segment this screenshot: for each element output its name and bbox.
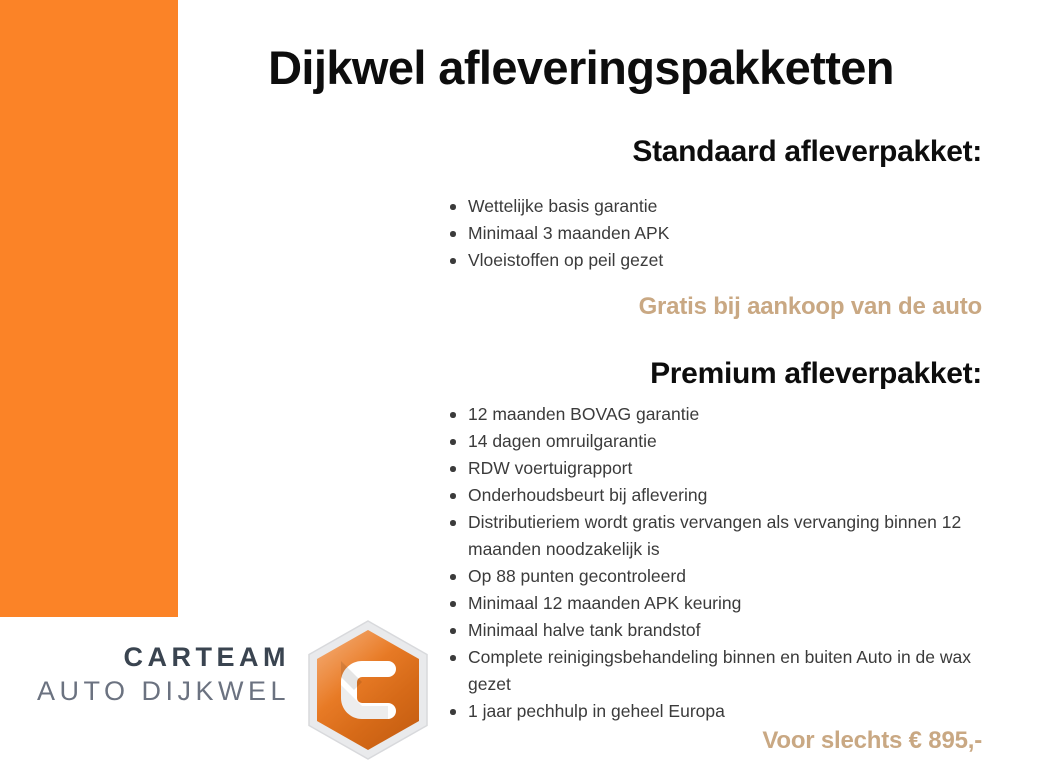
- list-item: Minimaal 3 maanden APK: [449, 220, 1009, 247]
- list-item: Wettelijke basis garantie: [449, 193, 1009, 220]
- list-item-label: Wettelijke basis garantie: [468, 196, 657, 216]
- list-item: Minimaal 12 maanden APK keuring: [449, 590, 1009, 617]
- standaard-price-note: Gratis bij aankoop van de auto: [639, 293, 982, 321]
- premium-price-note: Voor slechts € 895,-: [762, 727, 982, 755]
- list-item-label: Op 88 punten gecontroleerd: [468, 566, 686, 586]
- list-item: Op 88 punten gecontroleerd: [449, 563, 1009, 590]
- brand-name-auto-dijkwel: AUTO DIJKWEL: [0, 674, 290, 708]
- list-item-label: Vloeistoffen op peil gezet: [468, 250, 663, 270]
- page-title: Dijkwel afleveringspakketten: [180, 42, 982, 95]
- list-item-label: 14 dagen omruilgarantie: [468, 431, 657, 451]
- list-item: 1 jaar pechhulp in geheel Europa: [449, 698, 1009, 725]
- list-item: Minimaal halve tank brandstof: [449, 617, 1009, 644]
- list-item: Distributieriem wordt gratis vervangen a…: [449, 509, 1009, 563]
- list-item: 12 maanden BOVAG garantie: [449, 401, 1009, 428]
- list-item-label: Minimaal 12 maanden APK keuring: [468, 593, 741, 613]
- list-item-label: Minimaal 3 maanden APK: [468, 223, 669, 243]
- standaard-feature-list: Wettelijke basis garantie Minimaal 3 maa…: [449, 193, 1009, 274]
- list-item: Vloeistoffen op peil gezet: [449, 247, 1009, 274]
- list-item: Complete reinigingsbehandeling binnen en…: [449, 644, 1009, 698]
- list-item: Onderhoudsbeurt bij aflevering: [449, 482, 1009, 509]
- premium-section-heading: Premium afleverpakket:: [650, 357, 982, 391]
- poster-canvas: Dijkwel afleveringspakketten Standaard a…: [0, 0, 1064, 768]
- list-item-label: Distributieriem wordt gratis vervangen a…: [468, 512, 961, 559]
- list-item: 14 dagen omruilgarantie: [449, 428, 1009, 455]
- brand-name-carteam: CARTEAM: [0, 640, 290, 674]
- standaard-section-heading: Standaard afleverpakket:: [632, 135, 982, 169]
- premium-feature-list: 12 maanden BOVAG garantie 14 dagen omrui…: [449, 401, 1009, 725]
- orange-accent-bar: [0, 0, 178, 617]
- brand-wordmark: CARTEAM AUTO DIJKWEL: [0, 640, 290, 708]
- list-item-label: Minimaal halve tank brandstof: [468, 620, 700, 640]
- list-item-label: Complete reinigingsbehandeling binnen en…: [468, 647, 971, 694]
- list-item-label: Onderhoudsbeurt bij aflevering: [468, 485, 707, 505]
- list-item-label: RDW voertuigrapport: [468, 458, 632, 478]
- list-item-label: 1 jaar pechhulp in geheel Europa: [468, 701, 725, 721]
- carteam-hexagon-c-logo-icon: [302, 616, 434, 764]
- list-item-label: 12 maanden BOVAG garantie: [468, 404, 699, 424]
- list-item: RDW voertuigrapport: [449, 455, 1009, 482]
